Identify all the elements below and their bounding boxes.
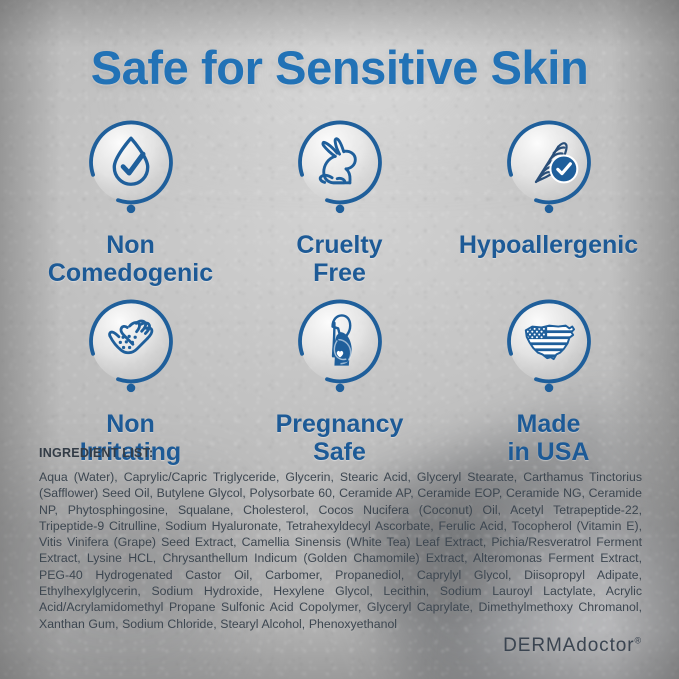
ingredient-list-heading: INGREDIENT LIST: (39, 446, 642, 460)
usa-map-flag-icon (497, 295, 601, 399)
droplet-check-icon (79, 116, 183, 220)
feather-check-icon (497, 116, 601, 220)
ingredient-list-text: Aqua (Water), Caprylic/Capric Triglyceri… (39, 469, 642, 632)
badge-medallion (288, 116, 392, 228)
badge-pregnancy-safe: Pregnancy Safe (235, 295, 444, 466)
badge-label: Hypoallergenic (459, 231, 638, 259)
pregnant-woman-icon (288, 295, 392, 399)
badge-cruelty-free: Cruelty Free (235, 116, 444, 287)
badge-medallion (497, 295, 601, 407)
badge-medallion (79, 295, 183, 407)
brand-logo: DERMAdoctor® (503, 635, 642, 657)
badge-medallion (288, 295, 392, 407)
badge-non-comedogenic: Non Comedogenic (26, 116, 235, 287)
badge-hypoallergenic: Hypoallergenic (444, 116, 653, 287)
hand-dots-icon (79, 295, 183, 399)
ingredient-list-section: INGREDIENT LIST: Aqua (Water), Caprylic/… (39, 446, 642, 632)
badge-made-in-usa: Made in USA (444, 295, 653, 466)
brand-name: DERMAdoctor (503, 635, 634, 656)
badge-label: Cruelty Free (296, 231, 382, 287)
claims-badge-grid: Non Comedogenic (26, 116, 653, 466)
badge-medallion (497, 116, 601, 228)
badge-medallion (79, 116, 183, 228)
page-title: Safe for Sensitive Skin (0, 40, 679, 95)
infographic-panel: Safe for Sensitive Skin (0, 0, 679, 679)
rabbit-icon (288, 116, 392, 220)
registered-trademark-icon: ® (634, 636, 642, 646)
badge-label: Non Comedogenic (48, 231, 213, 287)
badge-non-irritating: Non Irritating (26, 295, 235, 466)
